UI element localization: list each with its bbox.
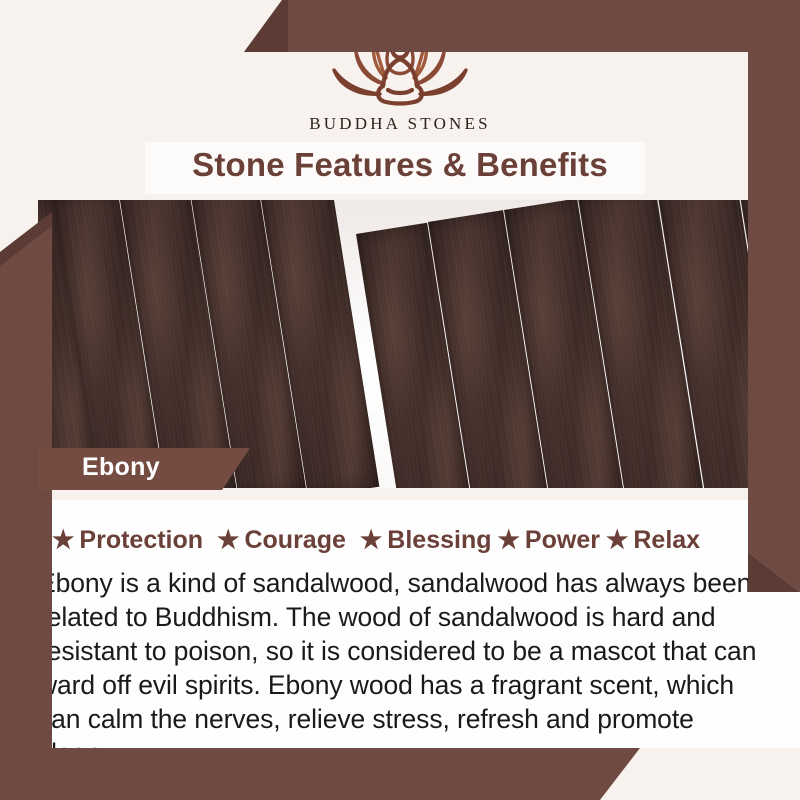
benefit-item-relax: ★ Relax: [606, 526, 700, 555]
benefit-item-blessing: ★ Blessing: [360, 526, 492, 555]
frame-ribbon-right: [748, 0, 800, 592]
star-icon: ★: [52, 528, 74, 553]
star-icon: ★: [360, 528, 382, 553]
infographic-page: BUDDHA STONES Stone Features & Benefits …: [0, 0, 800, 800]
brand-name: BUDDHA STONES: [0, 114, 800, 134]
frame-ribbon-left: [0, 212, 52, 800]
frame-ribbon-bottom: [0, 748, 640, 800]
benefit-label: Power: [525, 526, 600, 555]
star-icon: ★: [606, 528, 628, 553]
description-text: Ebony is a kind of sandalwood, sandalwoo…: [38, 566, 758, 770]
benefit-item-protection: ★ Protection: [52, 526, 203, 555]
benefit-item-courage: ★ Courage: [217, 526, 346, 555]
benefits-list: ★ Protection ★ Courage ★ Blessing ★ Powe…: [52, 526, 772, 555]
hero-image: [38, 200, 782, 488]
benefit-label: Blessing: [387, 526, 491, 555]
star-icon: ★: [498, 528, 520, 553]
benefit-label: Courage: [244, 526, 345, 555]
benefit-label: Relax: [633, 526, 700, 555]
material-label: Ebony: [82, 453, 160, 482]
page-title: Stone Features & Benefits: [0, 146, 800, 184]
benefit-item-power: ★ Power: [498, 526, 600, 555]
frame-ribbon-top: [244, 0, 800, 52]
benefit-label: Protection: [79, 526, 203, 555]
star-icon: ★: [217, 528, 239, 553]
